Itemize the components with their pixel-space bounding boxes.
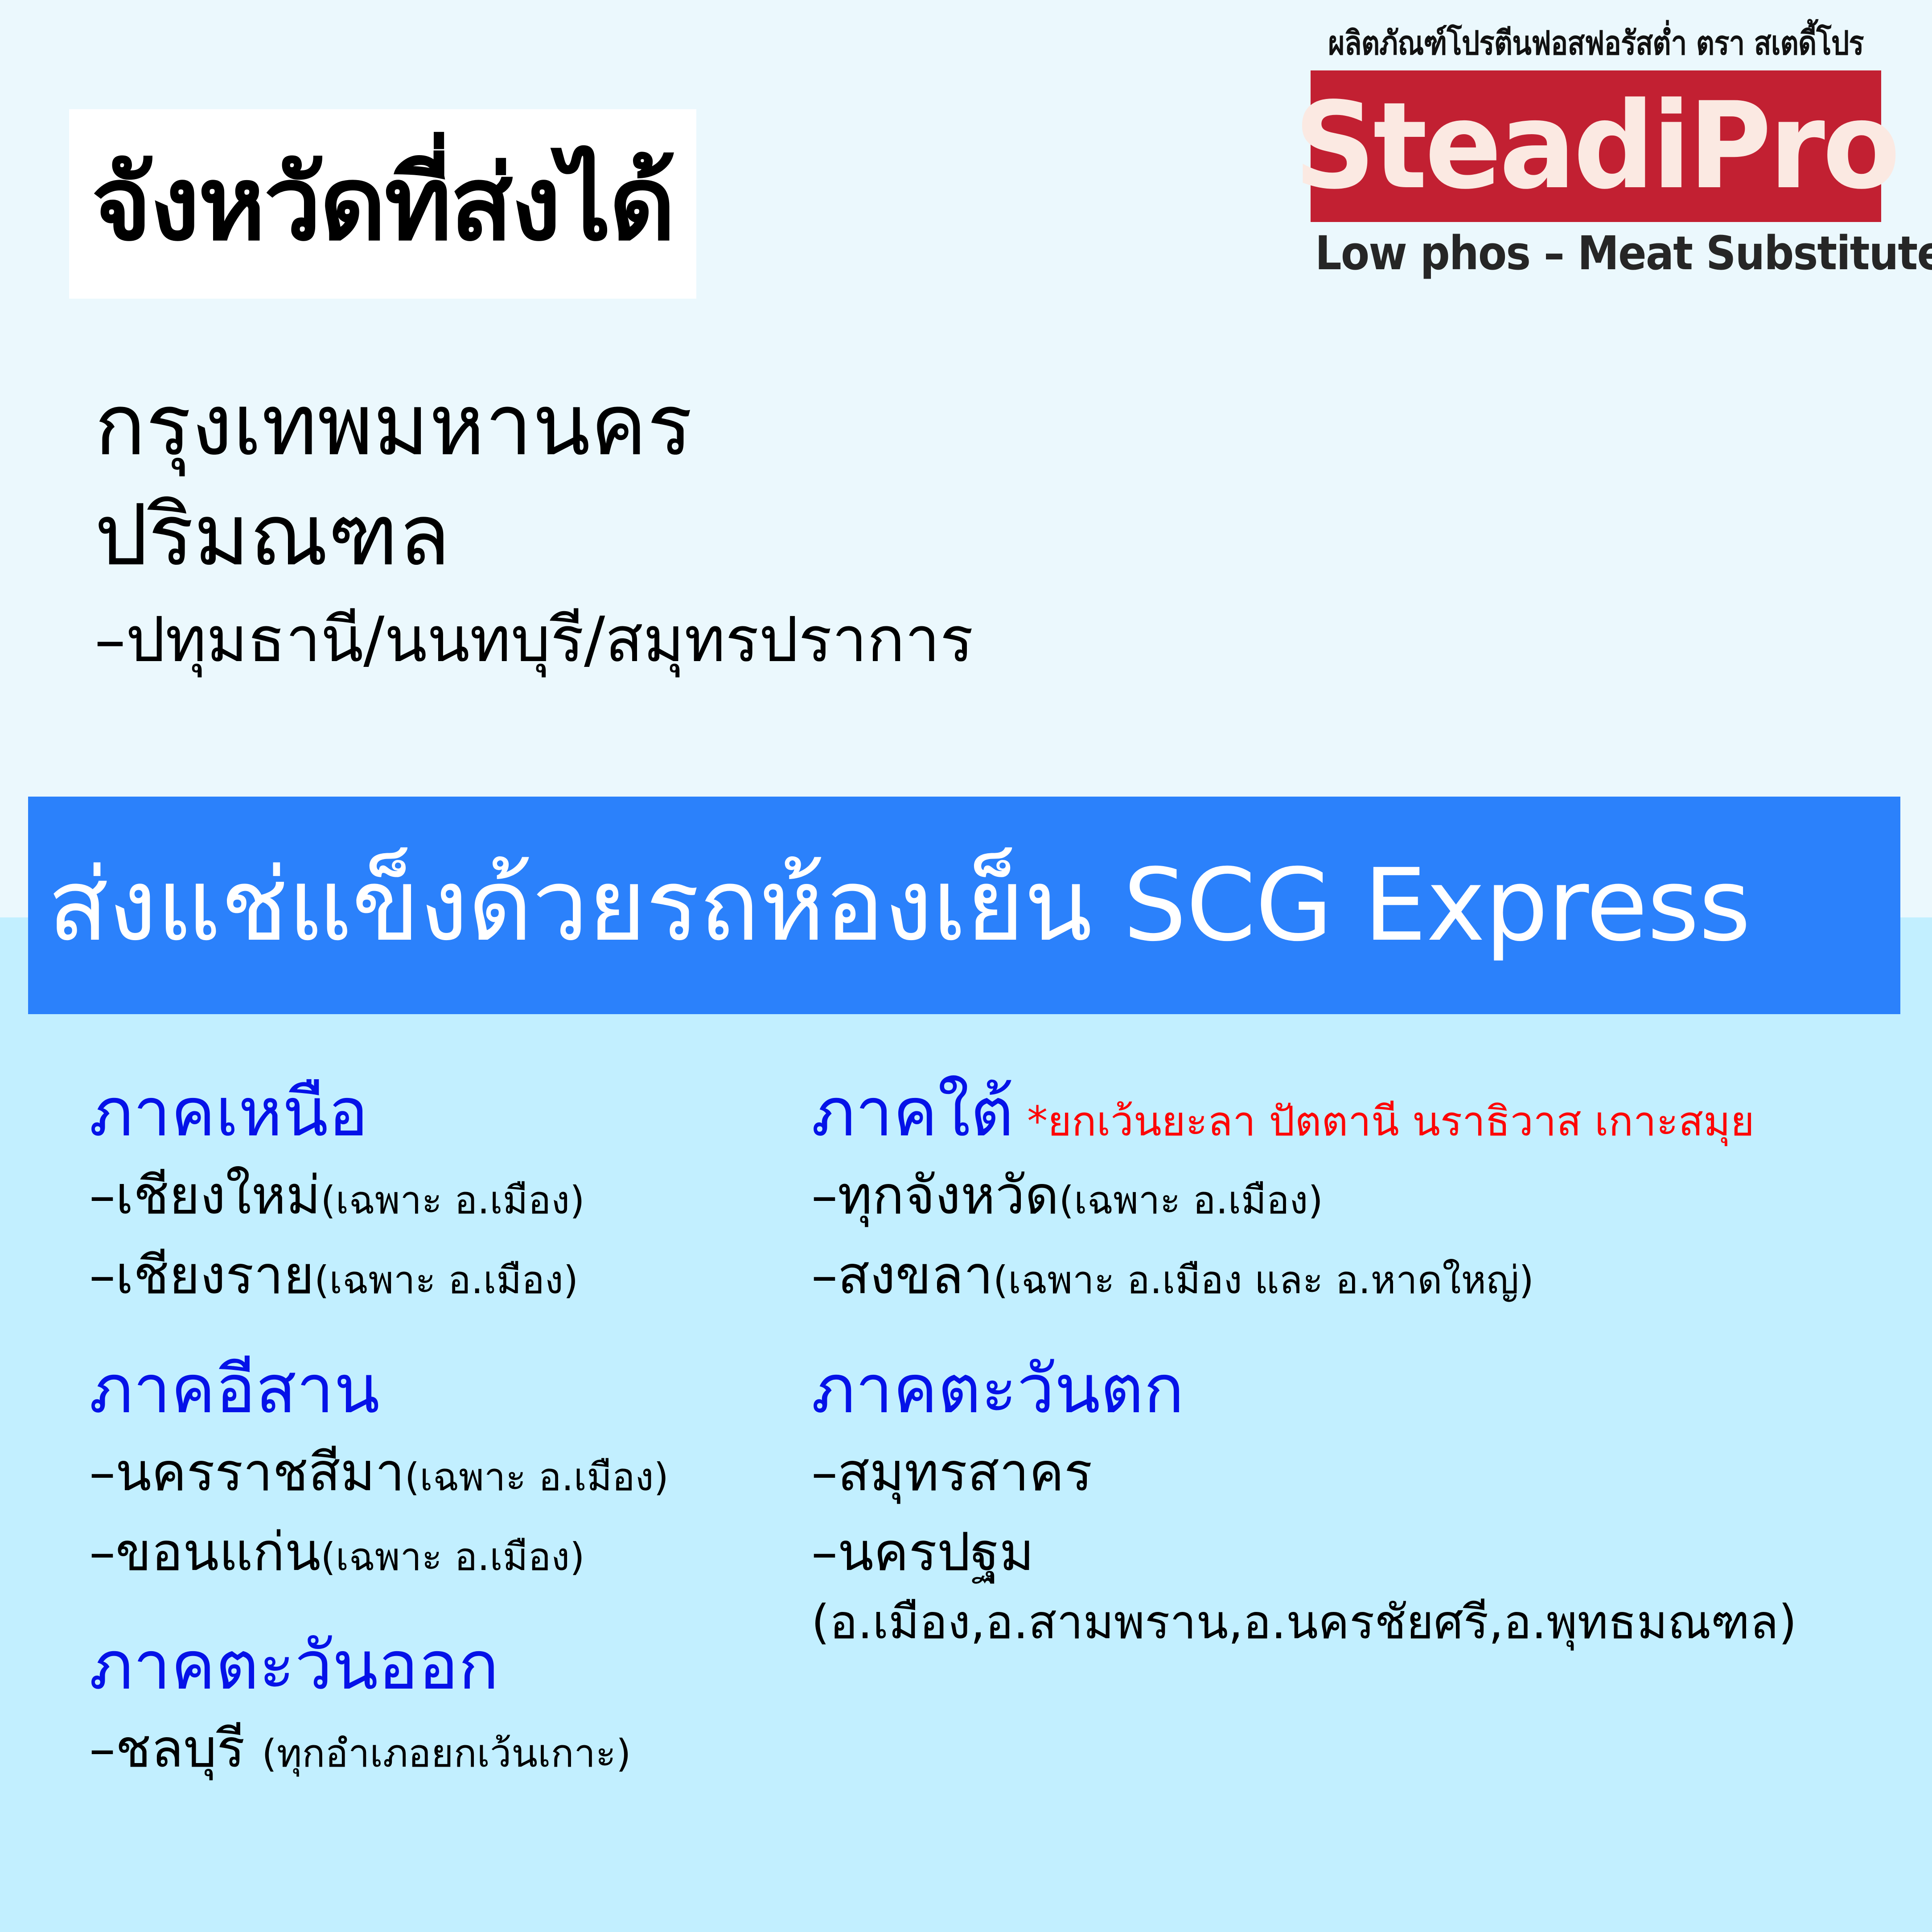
regions-column-left: ภาคเหนือ–เชียงใหม่(เฉพาะ อ.เมือง)–เชียงร… [89,1070,847,1800]
province-name: –นครปฐม [811,1521,1034,1583]
region-heading-row: ภาคอีสาน [89,1347,847,1432]
province-name: –สงขลา [811,1244,993,1306]
province-qualifier: (เฉพาะ อ.เมือง) [314,1258,578,1303]
region-district-detail: (อ.เมือง,อ.สามพราน,อ.นครชัยศรี,อ.พุทธมณฑ… [811,1592,1881,1653]
region-province-item: –สมุทรสาคร [811,1432,1881,1512]
province-qualifier: (เฉพาะ อ.เมือง) [1059,1178,1323,1223]
region-exclusion-note: *ยกเว้นยะลา ปัตตานี นราธิวาส เกาะสมุย [1027,1101,1755,1142]
province-name: –ทุกจังหวัด [811,1164,1059,1226]
region-province-item: –นครปฐม [811,1512,1881,1592]
region-heading-row: ภาคใต้*ยกเว้นยะลา ปัตตานี นราธิวาส เกาะส… [811,1070,1881,1155]
province-name: –นครราชสีมา [89,1441,405,1503]
region-province-item: –สงขลา(เฉพาะ อ.เมือง และ อ.หาดใหญ่) [811,1235,1881,1315]
province-qualifier: (เฉพาะ อ.เมือง) [321,1178,584,1223]
brand-red-box: SteadiPro [1311,70,1881,222]
province-qualifier: (เฉพาะ อ.เมือง และ อ.หาดใหญ่) [993,1258,1534,1303]
region-block-ภาคเหนือ: ภาคเหนือ–เชียงใหม่(เฉพาะ อ.เมือง)–เชียงร… [89,1070,847,1315]
metro-perimeter-provinces: –ปทุมธานี/นนทบุรี/สมุทรปราการ [95,601,974,679]
brand-subtitle: Low phos – Meat Substitute [1315,230,1877,276]
province-name: –เชียงใหม่ [89,1164,321,1226]
province-qualifier: (เฉพาะ อ.เมือง) [405,1455,669,1500]
express-shipping-banner-label: ส่งแช่แข็งด้วยรถห้องเย็น SCG Express [48,855,1751,955]
page-title-chip: จังหวัดที่ส่งได้ [69,109,696,299]
region-title: ภาคตะวันตก [811,1347,1184,1432]
region-heading-row: ภาคเหนือ [89,1070,847,1155]
brand-wordmark: SteadiPro [1294,86,1898,206]
regions-column-right: ภาคใต้*ยกเว้นยะลา ปัตตานี นราธิวาส เกาะส… [811,1070,1881,1665]
region-province-item: –เชียงใหม่(เฉพาะ อ.เมือง) [89,1155,847,1235]
metro-perimeter-label: ปริมณฑล [95,480,974,590]
region-title: ภาคใต้ [811,1070,1014,1155]
region-title: ภาคเหนือ [89,1070,368,1155]
metro-bangkok-label: กรุงเทพมหานคร [95,370,974,480]
metro-area-block: กรุงเทพมหานคร ปริมณฑล –ปทุมธานี/นนทบุรี/… [95,370,974,679]
region-province-item: –ชลบุรี (ทุกอำเภอยกเว้นเกาะ) [89,1709,847,1788]
region-block-ภาคตะวันตก: ภาคตะวันตก–สมุทรสาคร–นครปฐม(อ.เมือง,อ.สา… [811,1347,1881,1653]
region-province-item: –ขอนแก่น(เฉพาะ อ.เมือง) [89,1512,847,1592]
express-shipping-banner: ส่งแช่แข็งด้วยรถห้องเย็น SCG Express [28,797,1900,1014]
brand-tagline-thai: ผลิตภัณฑ์โปรตีนฟอสฟอรัสต่ำ ตรา สเตดี้โปร [1328,27,1864,60]
province-name: –ขอนแก่น [89,1521,321,1583]
province-name: –ชลบุรี [89,1718,262,1779]
region-province-item: –เชียงราย(เฉพาะ อ.เมือง) [89,1235,847,1315]
region-province-item: –นครราชสีมา(เฉพาะ อ.เมือง) [89,1432,847,1512]
province-name: –สมุทรสาคร [811,1441,1093,1503]
province-name: –เชียงราย [89,1244,314,1306]
region-province-item: –ทุกจังหวัด(เฉพาะ อ.เมือง) [811,1155,1881,1235]
regions-grid: ภาคเหนือ–เชียงใหม่(เฉพาะ อ.เมือง)–เชียงร… [0,1070,1932,1917]
page-title: จังหวัดที่ส่งได้ [91,153,674,255]
region-block-ภาคตะวันออก: ภาคตะวันออก–ชลบุรี (ทุกอำเภอยกเว้นเกาะ) [89,1623,847,1788]
region-heading-row: ภาคตะวันตก [811,1347,1881,1432]
region-title: ภาคตะวันออก [89,1623,499,1709]
region-title: ภาคอีสาน [89,1347,380,1432]
province-qualifier: (เฉพาะ อ.เมือง) [321,1535,584,1579]
region-heading-row: ภาคตะวันออก [89,1623,847,1709]
brand-logo-block: ผลิตภัณฑ์โปรตีนฟอสฟอรัสต่ำ ตรา สเตดี้โปร… [1284,27,1908,276]
province-qualifier: (ทุกอำเภอยกเว้นเกาะ) [262,1731,631,1776]
region-block-ภาคใต้: ภาคใต้*ยกเว้นยะลา ปัตตานี นราธิวาส เกาะส… [811,1070,1881,1315]
region-block-ภาคอีสาน: ภาคอีสาน–นครราชสีมา(เฉพาะ อ.เมือง)–ขอนแก… [89,1347,847,1592]
